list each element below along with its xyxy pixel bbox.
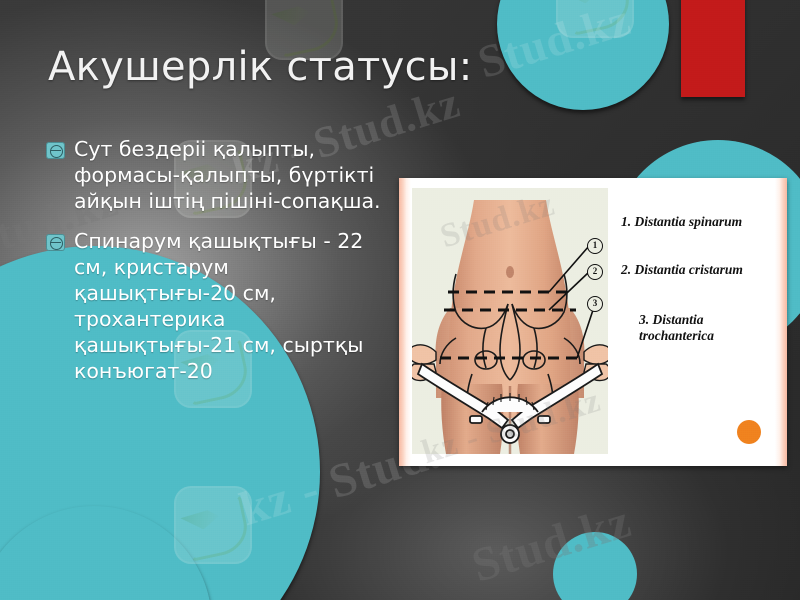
callout-marker-3: 3 xyxy=(587,296,603,312)
legend-item-spinarum: 1. Distantia spinarum xyxy=(621,214,742,230)
list-item: Сут бездеріі қалыпты, формасы-қалыпты, б… xyxy=(46,136,386,214)
panel-left-edge-stripe xyxy=(399,178,411,466)
legend-item-trochanterica: 3. Distantia trochanterica xyxy=(639,312,781,344)
decor-orange-dot xyxy=(737,420,761,444)
page-title: Акушерлік статусы: xyxy=(48,44,473,90)
decor-circle-top xyxy=(497,0,669,110)
slide-canvas: Stud.kz Stud.kz kz - Stud.kz kz - Stud.k… xyxy=(0,0,800,600)
book-bullet-icon xyxy=(46,142,65,159)
legend-item-cristarum: 2. Distantia cristarum xyxy=(621,262,743,278)
bullet-text: Спинарум қашықтығы - 22 см, кристарум қа… xyxy=(74,228,386,384)
pelvimetry-illustration xyxy=(412,188,608,454)
bullet-list: Сут бездеріі қалыпты, формасы-қалыпты, б… xyxy=(46,136,386,398)
callout-marker-2: 2 xyxy=(587,264,603,280)
bullet-text: Сут бездеріі қалыпты, формасы-қалыпты, б… xyxy=(74,136,386,214)
pelvimetry-svg xyxy=(412,188,608,454)
book-bullet-icon xyxy=(46,234,65,251)
decor-circle-bottom-right xyxy=(553,532,637,600)
decor-red-rectangle xyxy=(681,0,745,97)
list-item: Спинарум қашықтығы - 22 см, кристарум қа… xyxy=(46,228,386,384)
callout-marker-1: 1 xyxy=(587,238,603,254)
illustration-panel: 1 2 3 1. Distantia spinarum 2. Distantia… xyxy=(399,178,787,466)
